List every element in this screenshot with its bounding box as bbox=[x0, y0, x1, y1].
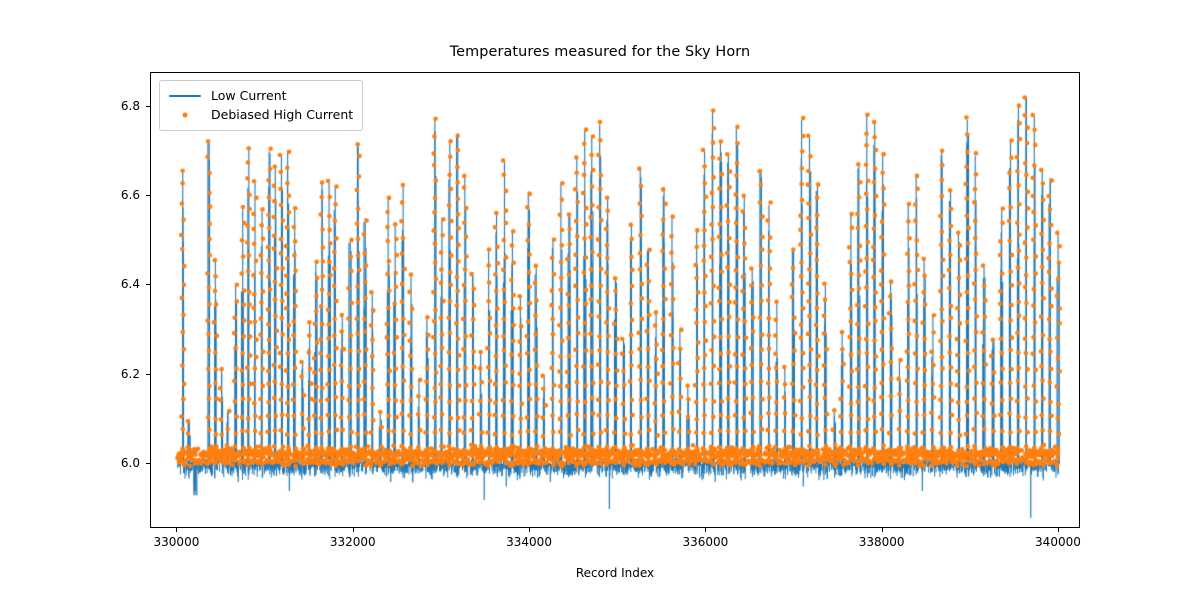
x-tick-label: 340000 bbox=[1035, 535, 1081, 549]
x-tick-mark bbox=[705, 528, 706, 532]
x-tick-mark bbox=[176, 528, 177, 532]
x-tick-label: 336000 bbox=[682, 535, 728, 549]
plot-area bbox=[150, 72, 1080, 528]
y-tick-mark bbox=[146, 284, 150, 285]
x-tick-mark bbox=[353, 528, 354, 532]
figure-canvas: Temperatures measured for the Sky Horn T… bbox=[0, 0, 1200, 600]
x-tick-mark bbox=[529, 528, 530, 532]
x-tick-mark bbox=[1058, 528, 1059, 532]
x-tick-label: 334000 bbox=[506, 535, 552, 549]
chart-plot-canvas bbox=[151, 73, 1080, 528]
legend-label: Low Current bbox=[211, 88, 287, 103]
y-tick-mark bbox=[146, 463, 150, 464]
y-tick-mark bbox=[146, 106, 150, 107]
legend-label: Debiased High Current bbox=[211, 107, 353, 122]
page-title: Temperatures measured for the Sky Horn bbox=[0, 44, 1200, 60]
y-tick-label: 6.4 bbox=[121, 277, 140, 291]
y-tick-mark bbox=[146, 374, 150, 375]
legend-dot-swatch bbox=[168, 108, 202, 122]
y-tick-label: 6.8 bbox=[121, 99, 140, 113]
y-tick-label: 6.2 bbox=[121, 367, 140, 381]
line-glyph-icon bbox=[169, 95, 201, 97]
legend-line-swatch bbox=[168, 89, 202, 103]
chart-legend: Low CurrentDebiased High Current bbox=[159, 80, 363, 131]
x-axis-label: Record Index bbox=[150, 566, 1080, 580]
dot-glyph-icon bbox=[183, 112, 188, 117]
y-tick-label: 6.6 bbox=[121, 188, 140, 202]
legend-item: Debiased High Current bbox=[168, 105, 353, 124]
x-tick-label: 338000 bbox=[859, 535, 905, 549]
legend-item: Low Current bbox=[168, 86, 353, 105]
x-tick-mark bbox=[882, 528, 883, 532]
x-tick-label: 330000 bbox=[154, 535, 200, 549]
y-tick-label: 6.0 bbox=[121, 456, 140, 470]
y-tick-mark bbox=[146, 195, 150, 196]
x-tick-label: 332000 bbox=[330, 535, 376, 549]
